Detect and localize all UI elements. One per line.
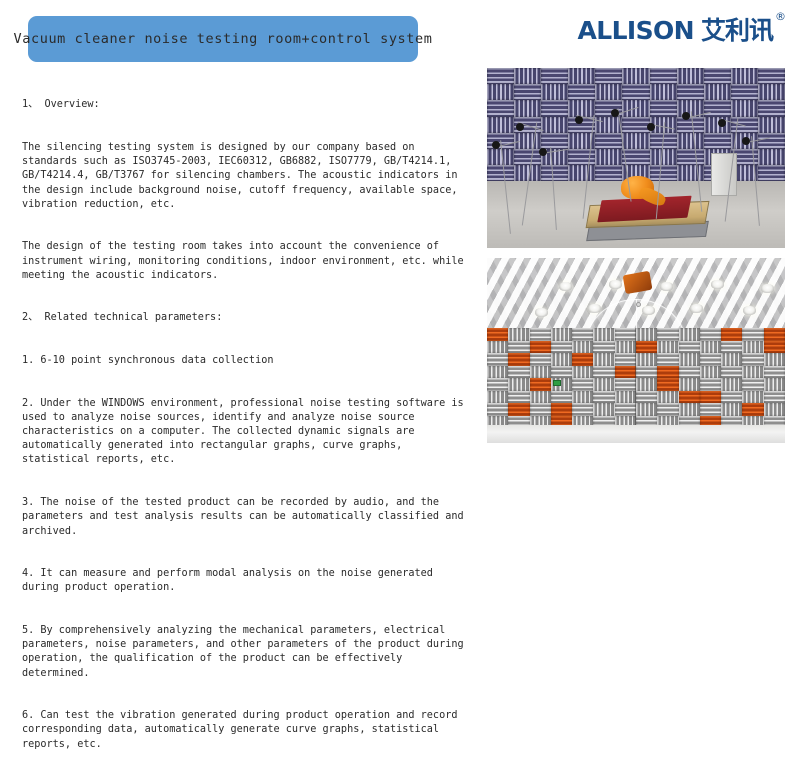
gray-wedge-block	[508, 391, 529, 403]
orange-wedge-block	[764, 328, 785, 340]
gray-wedge-block	[636, 366, 657, 378]
wedge-block	[758, 100, 785, 116]
wall-corner-line	[635, 328, 637, 428]
gray-wedge-block	[508, 366, 529, 378]
gray-wedge-block	[679, 353, 700, 365]
gray-wedge-block	[742, 328, 763, 340]
gray-wedge-block	[700, 378, 721, 390]
orange-wedge-block	[764, 341, 785, 353]
gray-wedge-block	[721, 341, 742, 353]
orange-wedge-block	[530, 378, 551, 390]
gray-wedge-block	[742, 366, 763, 378]
orange-wedge-block	[508, 353, 529, 365]
gray-wedge-block	[721, 403, 742, 415]
orange-wedge-block	[530, 341, 551, 353]
microphone-capsule	[516, 123, 524, 131]
page-title: Vacuum cleaner noise testing room+contro…	[14, 31, 433, 47]
wedge-block	[595, 68, 622, 84]
text-paragraph: 1、 Overview:	[22, 98, 474, 112]
gray-wedge-block	[721, 353, 742, 365]
wedge-block	[731, 68, 758, 84]
text-paragraph: The design of the testing room takes int…	[22, 240, 474, 283]
wedge-block	[595, 133, 622, 149]
gray-wedge-block	[615, 341, 636, 353]
wedge-block	[677, 84, 704, 100]
wedge-block	[487, 84, 514, 100]
wedge-block	[514, 100, 541, 116]
wedge-block	[595, 165, 622, 181]
wedge-block	[487, 117, 514, 133]
wedge-block	[568, 84, 595, 100]
text-paragraph: 5. By comprehensively analyzing the mech…	[22, 624, 474, 681]
gray-wedge-block	[764, 378, 785, 390]
gray-wedge-block	[721, 366, 742, 378]
description-text: 1、 Overview: The silencing testing syste…	[22, 70, 474, 766]
orange-wedge-block	[487, 328, 508, 340]
photo-anechoic-chamber-vacuum-test	[487, 68, 785, 248]
gray-wedge-block	[636, 403, 657, 415]
gray-wedge-block	[487, 366, 508, 378]
gray-wedge-block	[530, 353, 551, 365]
gray-wedge-block	[636, 391, 657, 403]
gray-wedge-block	[636, 378, 657, 390]
gray-wedge-block	[593, 391, 614, 403]
gray-wedge-block	[742, 391, 763, 403]
wedge-block	[677, 133, 704, 149]
gray-wedge-block	[572, 391, 593, 403]
gray-wedge-block	[551, 391, 572, 403]
gray-wedge-block	[551, 353, 572, 365]
gray-wedge-block	[593, 328, 614, 340]
gray-wedge-block	[615, 328, 636, 340]
gray-wedge-block	[742, 353, 763, 365]
text-paragraph: 2. Under the WINDOWS environment, profes…	[22, 397, 474, 468]
wedge-block	[541, 68, 568, 84]
orange-wedge-block	[700, 391, 721, 403]
gray-wedge-block	[742, 341, 763, 353]
orange-wedge-block	[615, 366, 636, 378]
wedge-block	[568, 100, 595, 116]
orange-wedge-block	[657, 366, 678, 378]
gray-wedge-block	[572, 341, 593, 353]
gray-wedge-block	[593, 341, 614, 353]
title-banner: Vacuum cleaner noise testing room+contro…	[28, 16, 418, 62]
text-paragraph: 4. It can measure and perform modal anal…	[22, 567, 474, 595]
wedge-block	[704, 100, 731, 116]
wedge-block	[731, 100, 758, 116]
wedge-block	[541, 133, 568, 149]
gray-wedge-block	[721, 391, 742, 403]
text-paragraph: The silencing testing system is designed…	[22, 141, 474, 212]
wedge-block	[622, 133, 649, 149]
orange-wedge-block	[657, 378, 678, 390]
wedge-block	[758, 117, 785, 133]
gray-wedge-block	[700, 403, 721, 415]
ceiling-spotlight	[711, 280, 724, 289]
text-paragraph: 3. The noise of the tested product can b…	[22, 496, 474, 539]
wedge-block	[595, 84, 622, 100]
gray-wedge-block	[487, 403, 508, 415]
ceiling-spotlight	[660, 282, 673, 291]
gray-wedge-block	[615, 391, 636, 403]
gray-wedge-block	[636, 353, 657, 365]
wedge-block	[595, 149, 622, 165]
orange-wedge-block	[508, 403, 529, 415]
microphone-capsule	[647, 123, 655, 131]
photo-semi-anechoic-chamber	[487, 258, 785, 443]
wedge-block	[677, 68, 704, 84]
ceiling-spotlight	[690, 304, 703, 313]
gray-wedge-block	[487, 391, 508, 403]
gray-wedge-block	[508, 328, 529, 340]
ceiling-spotlight	[609, 280, 622, 289]
gray-wedge-block	[615, 403, 636, 415]
wedge-block	[650, 165, 677, 181]
gray-wedge-block	[530, 366, 551, 378]
logo-latin-text: ALLISON	[577, 18, 694, 43]
gray-wedge-block	[700, 353, 721, 365]
wedge-block	[758, 165, 785, 181]
gray-wedge-block	[636, 328, 657, 340]
microphone-capsule	[492, 141, 500, 149]
wedge-block	[758, 68, 785, 84]
gray-wedge-block	[572, 378, 593, 390]
wedge-block	[514, 84, 541, 100]
ceiling-spotlight	[761, 284, 774, 293]
gray-wedge-block	[615, 378, 636, 390]
wedge-block	[704, 84, 731, 100]
gray-wedge-block	[764, 366, 785, 378]
microphone-capsule	[575, 116, 583, 124]
wedge-block	[622, 117, 649, 133]
gray-wedge-block	[679, 366, 700, 378]
gray-wedge-block	[657, 391, 678, 403]
gray-wedge-block	[657, 328, 678, 340]
wedge-block	[568, 149, 595, 165]
chamber-floor	[487, 425, 785, 444]
wedge-block	[731, 84, 758, 100]
wedge-block	[487, 165, 514, 181]
gray-wedge-block	[764, 391, 785, 403]
wedge-block	[704, 133, 731, 149]
text-paragraph: 2、 Related technical parameters:	[22, 311, 474, 325]
wedge-block	[622, 68, 649, 84]
wedge-block	[758, 133, 785, 149]
gray-wedge-block	[679, 328, 700, 340]
wedge-block	[541, 165, 568, 181]
gray-wedge-block	[721, 378, 742, 390]
wedge-block	[541, 84, 568, 100]
gray-wedge-block	[657, 341, 678, 353]
ceiling-spotlight	[743, 306, 756, 315]
gray-wedge-block	[679, 403, 700, 415]
gray-wedge-block	[700, 341, 721, 353]
gray-wedge-block	[700, 366, 721, 378]
gray-wedge-block	[572, 403, 593, 415]
wedge-block	[514, 149, 541, 165]
exit-sign-icon	[553, 380, 561, 386]
wedge-block	[487, 100, 514, 116]
gray-wedge-block	[551, 366, 572, 378]
orange-wedge-block	[679, 391, 700, 403]
gray-wedge-block	[700, 328, 721, 340]
text-paragraph: 6. Can test the vibration generated duri…	[22, 709, 474, 752]
orange-wedge-block	[742, 403, 763, 415]
gray-wedge-block	[551, 328, 572, 340]
wedge-block	[622, 84, 649, 100]
wedge-block	[541, 117, 568, 133]
photo-column	[487, 68, 785, 443]
wedge-block	[541, 100, 568, 116]
wedge-block	[568, 68, 595, 84]
wedge-block	[650, 84, 677, 100]
gray-wedge-block	[679, 378, 700, 390]
gray-wedge-block	[530, 403, 551, 415]
gray-wedge-block	[487, 378, 508, 390]
wedge-block	[568, 165, 595, 181]
wedge-block	[704, 68, 731, 84]
ceiling-spotlight	[535, 308, 548, 317]
wedge-block	[650, 100, 677, 116]
gray-wedge-block	[508, 341, 529, 353]
gray-wedge-block	[508, 378, 529, 390]
gray-wedge-block	[764, 353, 785, 365]
registered-trademark-icon: ®	[775, 11, 786, 22]
company-logo: ALLISON 艾利讯 ®	[577, 18, 786, 43]
gray-wedge-block	[742, 378, 763, 390]
gray-wedge-block	[530, 391, 551, 403]
wedge-block	[650, 68, 677, 84]
gray-wedge-block	[679, 341, 700, 353]
gray-wedge-block	[572, 328, 593, 340]
wedge-block	[677, 117, 704, 133]
wedge-block	[758, 149, 785, 165]
orange-wedge-block	[636, 341, 657, 353]
orange-wedge-block	[721, 328, 742, 340]
wedge-block	[487, 68, 514, 84]
wedge-block	[677, 165, 704, 181]
gray-wedge-block	[572, 366, 593, 378]
wedge-block	[704, 117, 731, 133]
logo-chinese-text: 艾利讯	[701, 18, 773, 43]
orange-wedge-block	[572, 353, 593, 365]
gray-wedge-block	[657, 353, 678, 365]
gray-wedge-block	[487, 341, 508, 353]
orange-wedge-block	[551, 403, 572, 415]
gray-wedge-block	[593, 378, 614, 390]
gray-wedge-block	[615, 353, 636, 365]
wedge-block	[514, 68, 541, 84]
gray-wedge-block	[593, 366, 614, 378]
text-paragraph: 1. 6-10 point synchronous data collectio…	[22, 354, 474, 368]
gray-wedge-block	[551, 341, 572, 353]
gray-wedge-block	[530, 328, 551, 340]
gray-wedge-block	[593, 353, 614, 365]
page-header: Vacuum cleaner noise testing room+contro…	[0, 0, 800, 66]
gray-wedge-block	[657, 403, 678, 415]
wedge-block	[758, 84, 785, 100]
gray-wedge-block	[764, 403, 785, 415]
gray-wedge-block	[593, 403, 614, 415]
gray-wedge-block	[487, 353, 508, 365]
ceiling-spotlight	[559, 282, 572, 291]
wedge-block	[677, 149, 704, 165]
microphone-capsule	[611, 109, 619, 117]
